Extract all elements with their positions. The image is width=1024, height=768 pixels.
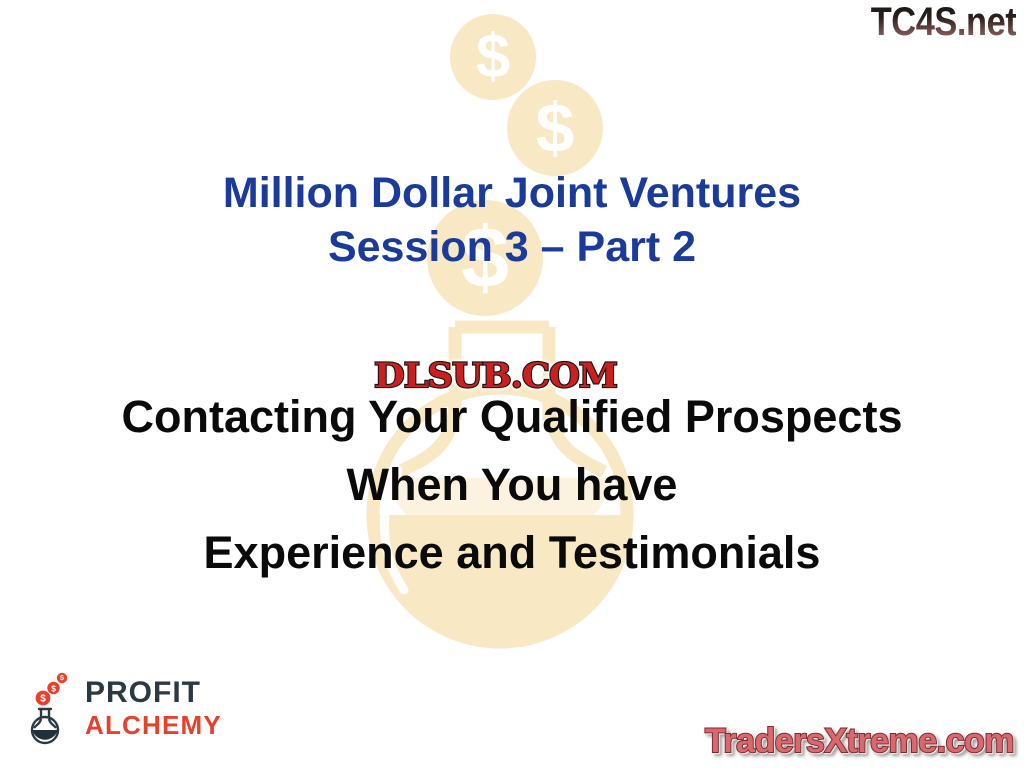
- profit-alchemy-logo: $ $ $ PROFIT ALCHEMY: [28, 670, 222, 746]
- flask-icon: $ $ $: [28, 670, 76, 746]
- svg-text:$: $: [51, 684, 56, 694]
- svg-text:$: $: [40, 693, 46, 704]
- profit-alchemy-word-alchemy: ALCHEMY: [85, 712, 222, 738]
- tradersxtreme-com-logo: TradersXtreme.com: [705, 722, 1014, 760]
- tc4s-net-logo: TC4S.net: [870, 2, 1016, 42]
- body-line-2: When You have: [0, 451, 1024, 519]
- title-line-1: Million Dollar Joint Ventures: [0, 166, 1024, 220]
- profit-alchemy-word-profit: PROFIT: [85, 678, 222, 708]
- profit-alchemy-wordmark: PROFIT ALCHEMY: [85, 678, 222, 738]
- dlsub-com-watermark: DLSUB.COM: [374, 358, 617, 394]
- slide-body: Contacting Your Qualified Prospects When…: [0, 383, 1024, 587]
- presentation-slide: $ $ $: [0, 0, 1024, 768]
- flask-outline: [32, 709, 58, 743]
- svg-text:$: $: [60, 675, 64, 682]
- coin-bubbles-icon: $ $ $: [36, 673, 68, 706]
- body-line-3: Experience and Testimonials: [0, 519, 1024, 587]
- slide-title: Million Dollar Joint Ventures Session 3 …: [0, 166, 1024, 274]
- title-line-2: Session 3 – Part 2: [0, 220, 1024, 274]
